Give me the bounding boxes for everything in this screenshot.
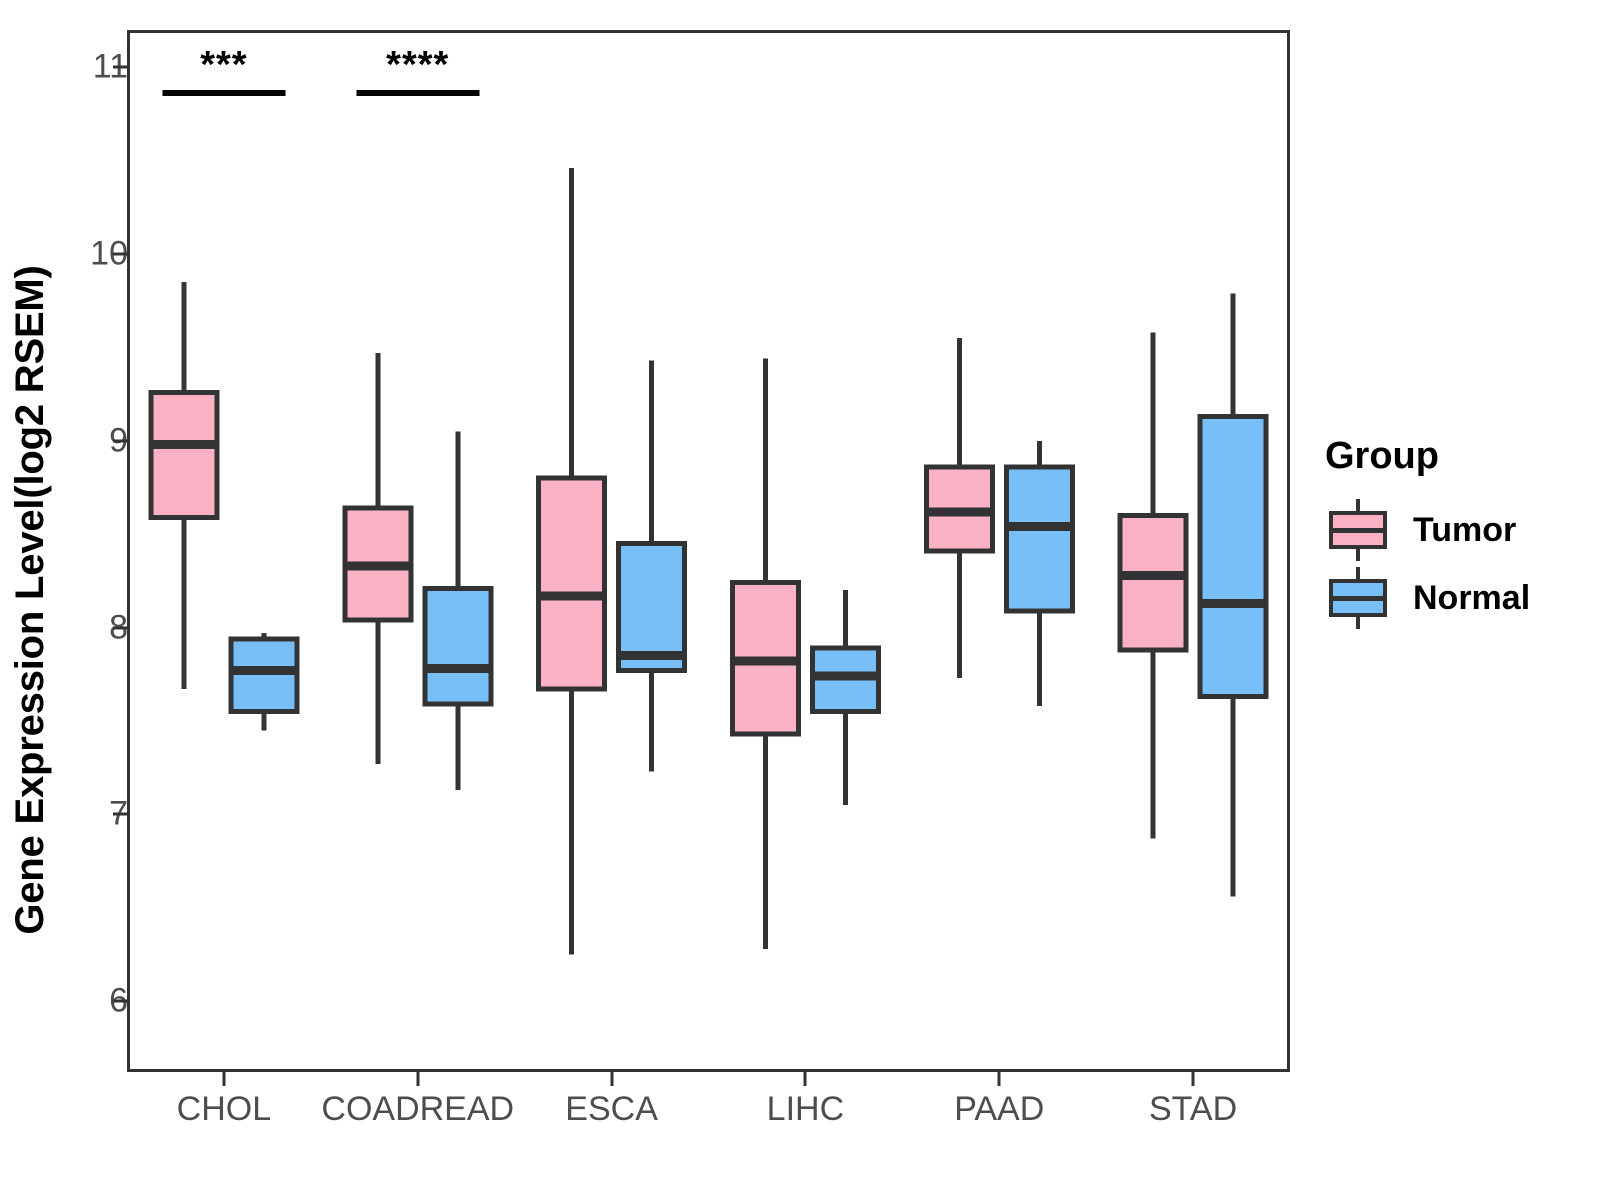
x-tick-label-coadread: COADREAD: [321, 1090, 514, 1129]
significance-bracket-coadread: [356, 90, 479, 96]
x-tick-label-esca: ESCA: [565, 1090, 658, 1129]
y-axis-title: Gene Expression Level(log2 RSEM): [0, 0, 60, 1200]
y-tick-mark: [113, 66, 127, 69]
x-tick-mark: [1192, 1072, 1195, 1086]
legend-median: [1329, 596, 1387, 601]
y-tick-mark: [113, 813, 127, 816]
x-tick-mark: [222, 1072, 225, 1086]
x-tick-label-stad: STAD: [1149, 1090, 1237, 1129]
x-tick-label-lihc: LIHC: [767, 1090, 844, 1129]
significance-label-coadread: ****: [386, 44, 449, 87]
y-tick-mark: [113, 1000, 127, 1003]
plot-panel: [127, 30, 1290, 1072]
x-tick-mark: [998, 1072, 1001, 1086]
x-tick-label-chol: CHOL: [177, 1090, 271, 1129]
x-tick-mark: [804, 1072, 807, 1086]
legend-key-tumor-icon: [1325, 499, 1391, 561]
legend-items: TumorNormal: [1325, 496, 1585, 632]
legend-item-normal[interactable]: Normal: [1325, 564, 1585, 632]
y-tick-mark: [113, 626, 127, 629]
legend-key-normal-icon: [1325, 567, 1391, 629]
legend-item-tumor[interactable]: Tumor: [1325, 496, 1585, 564]
chart-root: Gene Expression Level(log2 RSEM) 6789101…: [0, 0, 1600, 1200]
x-tick-label-paad: PAAD: [954, 1090, 1044, 1129]
legend: Group TumorNormal: [1325, 435, 1585, 632]
legend-median: [1329, 528, 1387, 533]
legend-label-normal: Normal: [1413, 579, 1530, 618]
legend-title: Group: [1325, 435, 1585, 478]
y-tick-mark: [113, 253, 127, 256]
y-tick-mark: [113, 439, 127, 442]
legend-label-tumor: Tumor: [1413, 511, 1516, 550]
significance-bracket-chol: [162, 90, 285, 96]
x-tick-mark: [416, 1072, 419, 1086]
x-tick-mark: [610, 1072, 613, 1086]
significance-label-chol: ***: [200, 44, 247, 87]
